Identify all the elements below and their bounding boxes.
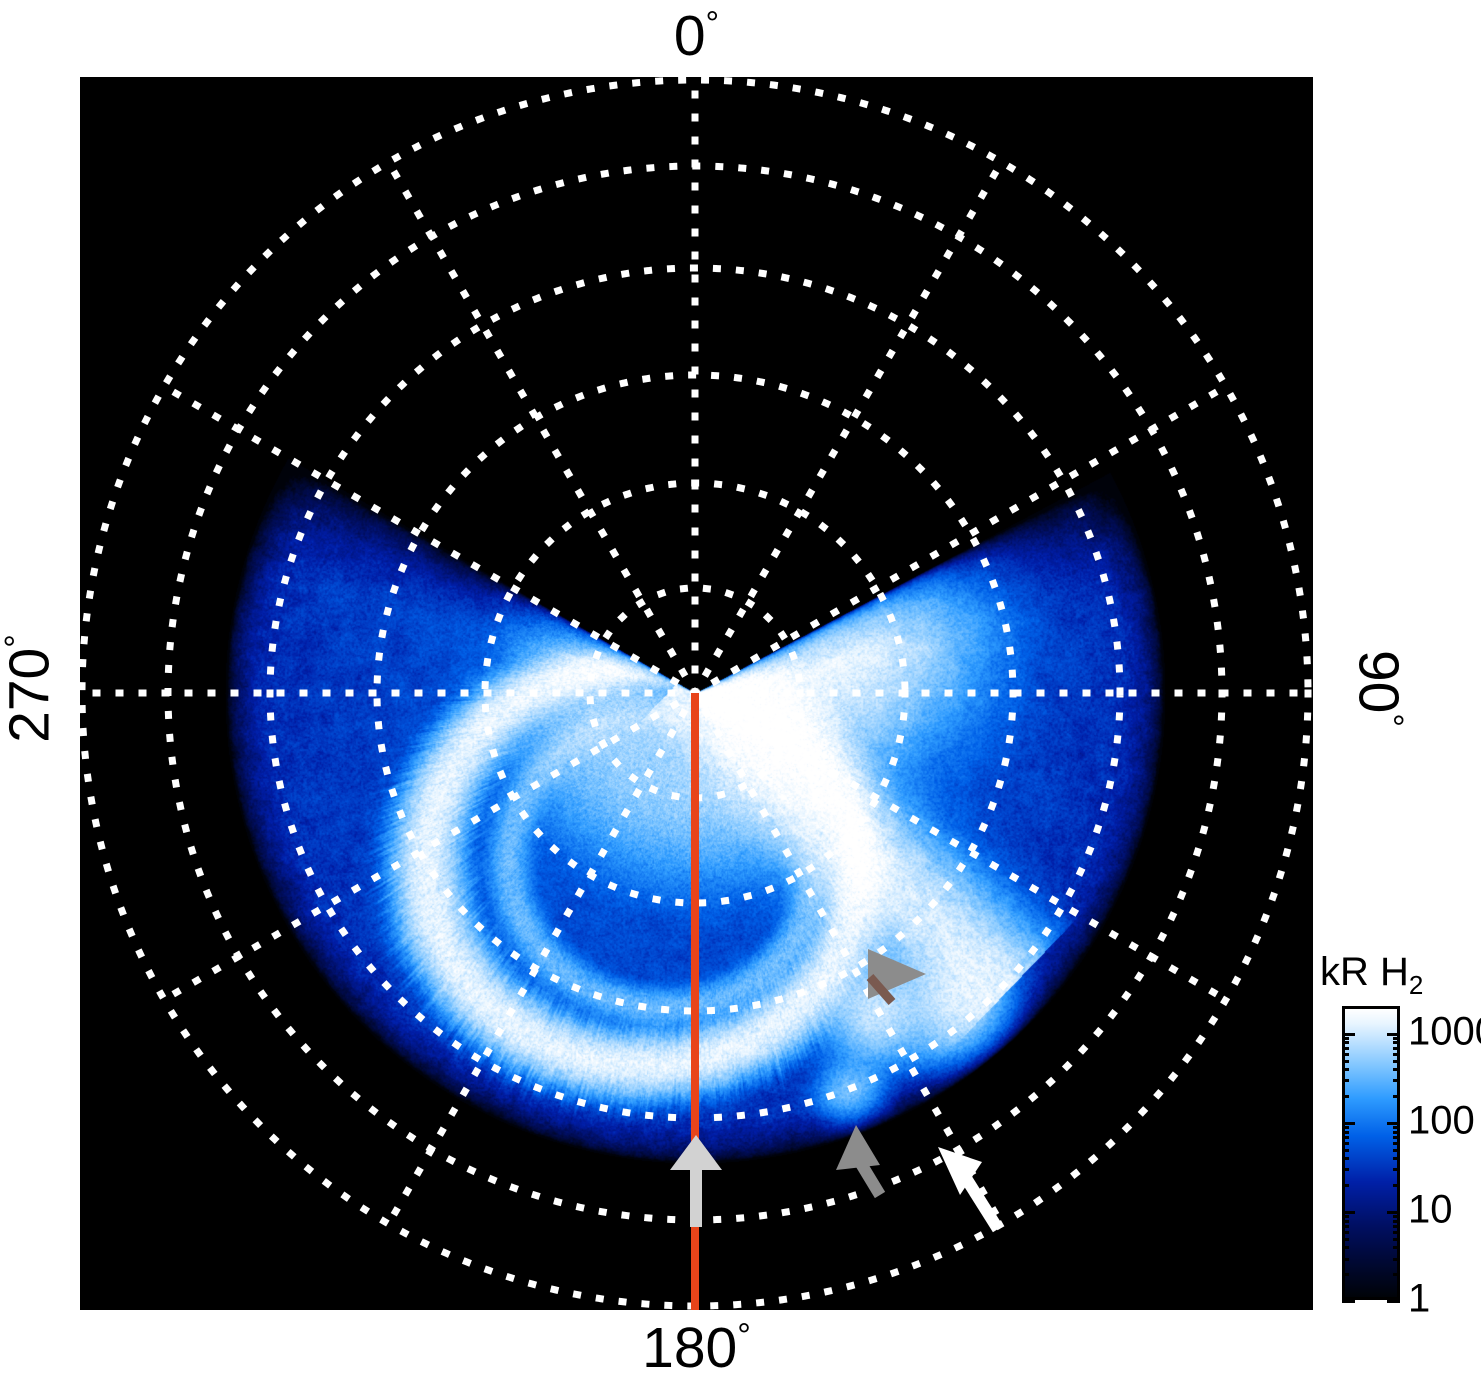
colorbar: kR H2 1000100101 [1320, 950, 1481, 1325]
annotation-arrows [80, 77, 1313, 1310]
colorbar-tick-label: 1 [1408, 1277, 1430, 1322]
colorbar-tick-label: 1000 [1408, 1009, 1481, 1054]
colorbar-tick-label: 10 [1408, 1188, 1453, 1233]
white-arrow-left-icon [670, 1135, 722, 1227]
axis-label-90deg: 90° [1350, 599, 1407, 779]
axis-label-270deg: 270° [2, 599, 59, 779]
white-arrow-right-icon [938, 1147, 998, 1229]
polar-plot-area [80, 77, 1313, 1310]
polar-aurora-figure: 0° 180° 270° 90° [0, 0, 1481, 1386]
gray-arrow-lower-icon [836, 1125, 880, 1195]
colorbar-tick-label: 100 [1408, 1098, 1475, 1143]
axis-label-180deg: 180° [0, 1320, 1393, 1377]
colorbar-major-tick [1342, 1300, 1400, 1303]
colorbar-gradient [1342, 1006, 1400, 1300]
colorbar-title: kR H2 [1320, 950, 1423, 995]
axis-label-0deg: 0° [0, 8, 1393, 65]
gray-arrow-upper-icon [868, 949, 926, 1002]
